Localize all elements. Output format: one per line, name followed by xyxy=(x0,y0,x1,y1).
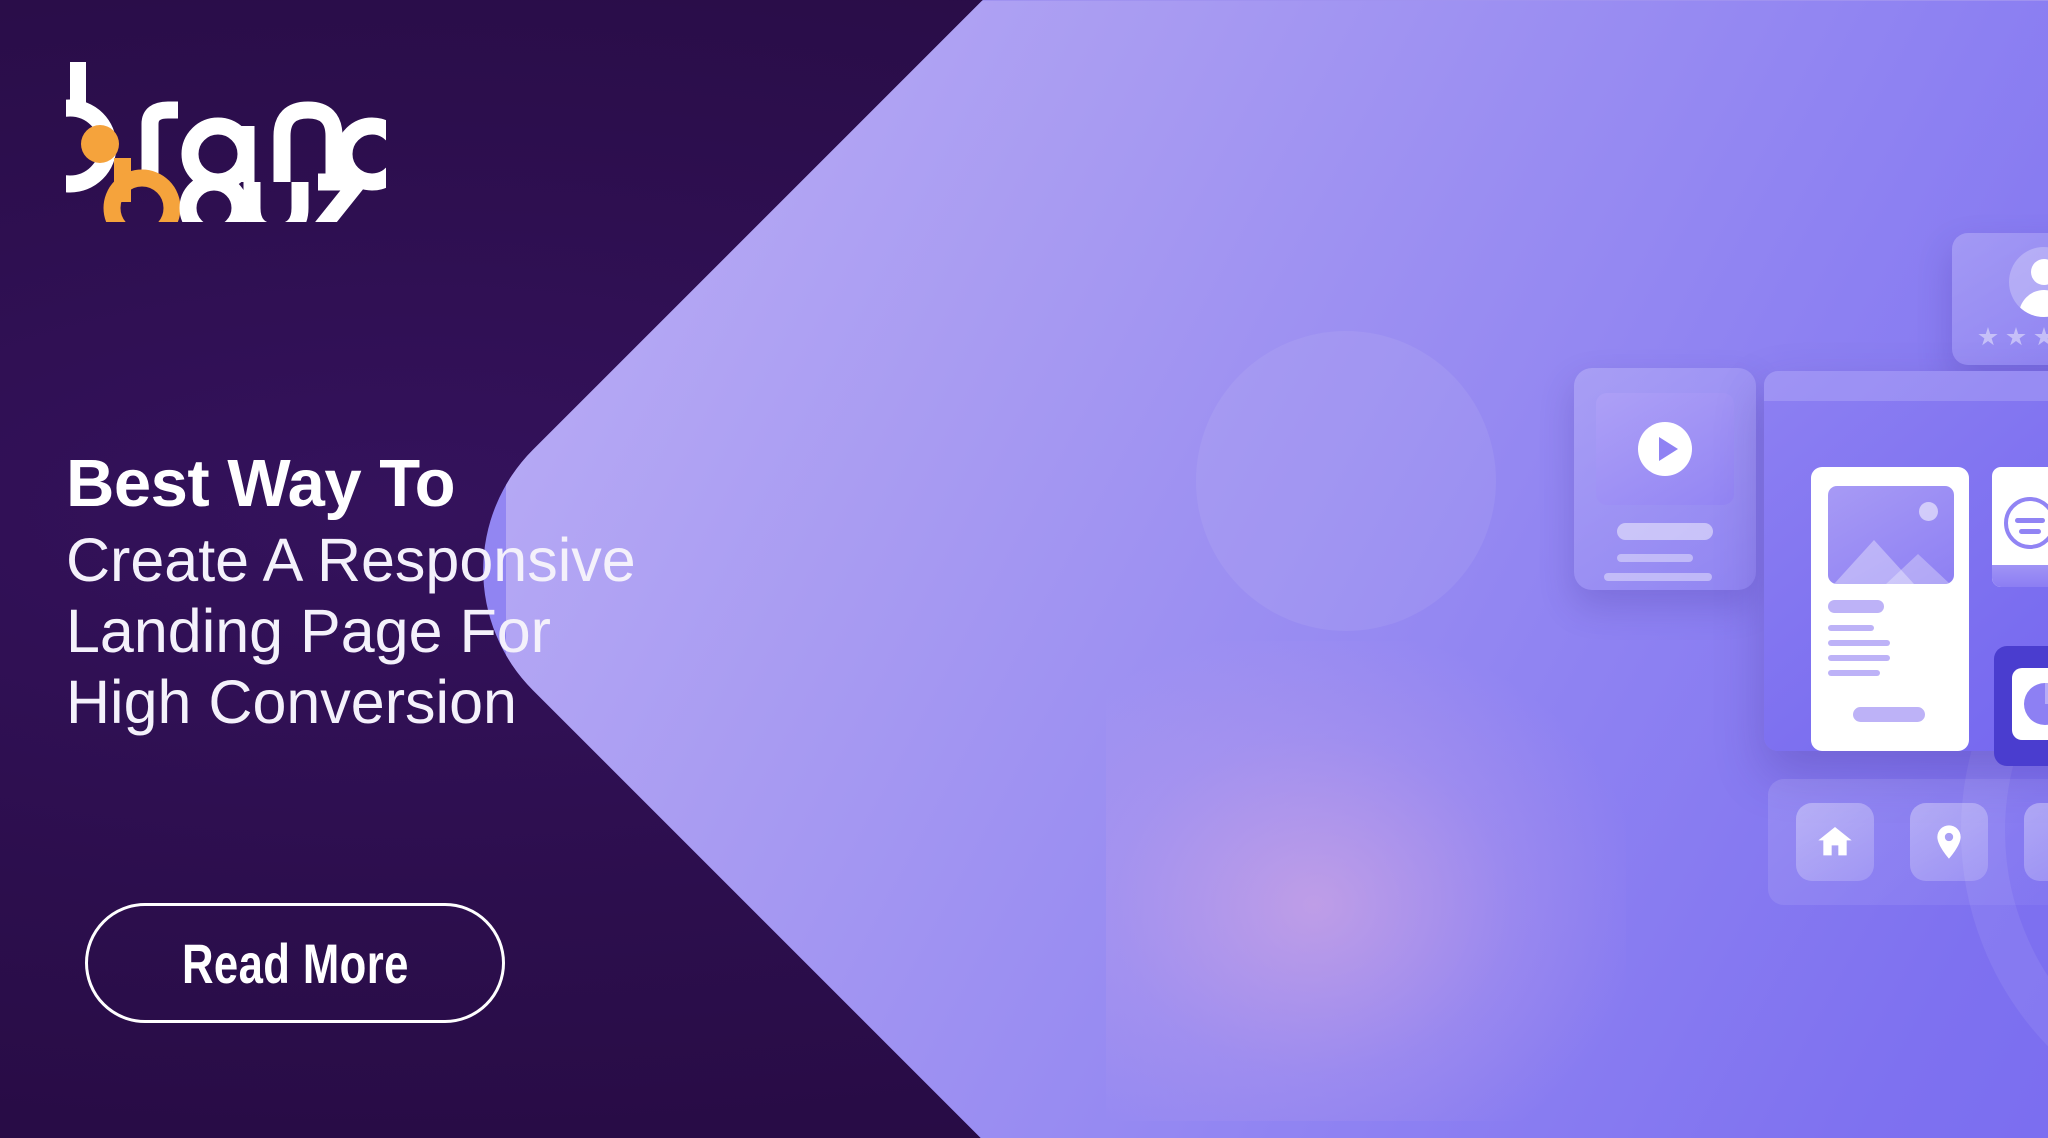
placeholder-bar xyxy=(1828,625,1874,631)
phone-icon xyxy=(2024,803,2048,881)
placeholder-button xyxy=(1853,707,1925,722)
promo-banner: </> xyxy=(0,0,2048,1138)
avatar-ring xyxy=(2004,497,2048,549)
placeholder-bar xyxy=(1828,655,1890,661)
placeholder-bar xyxy=(1604,573,1712,581)
headline-line-3: Landing Page For xyxy=(66,596,786,667)
icon-tray xyxy=(1768,779,2048,905)
placeholder-bar xyxy=(1617,554,1693,562)
mountain-shape xyxy=(1886,554,1950,584)
phone-mockup xyxy=(1992,467,2048,587)
read-more-label: Read More xyxy=(182,931,409,996)
headline-line-4: High Conversion xyxy=(66,667,786,738)
user-avatar-icon xyxy=(2009,247,2048,317)
article-card-mockup xyxy=(1811,467,1969,751)
placeholder-bar xyxy=(1828,600,1884,613)
home-icon xyxy=(1796,803,1874,881)
card-footer xyxy=(1992,565,2048,587)
video-card xyxy=(1574,368,1756,590)
read-more-button[interactable]: Read More xyxy=(85,903,505,1023)
video-thumbnail xyxy=(1596,393,1734,505)
headline-body: Create A Responsive Landing Page For Hig… xyxy=(66,525,786,737)
star-icon xyxy=(2006,327,2026,347)
headline-block: Best Way To Create A Responsive Landing … xyxy=(66,450,786,737)
decorative-circle xyxy=(1196,331,1496,631)
play-icon xyxy=(1638,422,1692,476)
star-icon xyxy=(1978,327,1998,347)
profile-rating-card xyxy=(1952,233,2048,365)
pink-glow xyxy=(1106,641,1626,1121)
pie-shape xyxy=(2024,683,2048,725)
location-pin-icon xyxy=(1910,803,1988,881)
sun-shape xyxy=(1919,502,1938,521)
pie-chart-icon xyxy=(2012,668,2048,740)
placeholder-bar xyxy=(2015,518,2045,523)
placeholder-bar xyxy=(1617,523,1713,540)
headline-line-2: Create A Responsive xyxy=(66,525,786,596)
browser-titlebar xyxy=(1764,371,2048,401)
avatar-body xyxy=(2019,290,2048,317)
star-rating xyxy=(1978,327,2048,347)
image-placeholder-icon xyxy=(1828,486,1954,584)
placeholder-bar xyxy=(1828,640,1890,646)
play-triangle xyxy=(1659,437,1678,461)
headline-emphasis: Best Way To xyxy=(66,450,786,517)
avatar-head xyxy=(2031,259,2048,285)
analytics-strip xyxy=(1994,646,2048,766)
illustration-unrotate: </> xyxy=(740,0,2048,1138)
star-icon xyxy=(2034,327,2048,347)
brand-logo[interactable] xyxy=(66,62,386,222)
placeholder-bar xyxy=(1828,670,1880,676)
placeholder-bar xyxy=(2019,529,2041,534)
